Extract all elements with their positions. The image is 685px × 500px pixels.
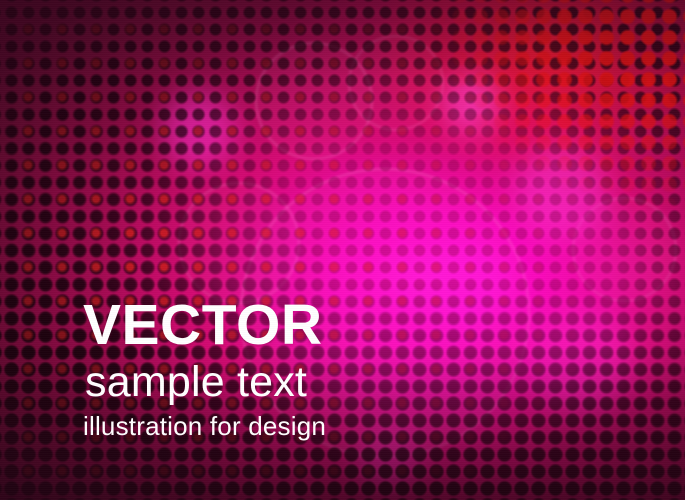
bokeh-ring-top-right — [348, 35, 444, 131]
bokeh-glow-lower-right — [520, 300, 640, 420]
bokeh-glow-center-bright — [424, 243, 510, 329]
bokeh-glow-top-mid — [438, 70, 504, 136]
bokeh-glow-left-upper — [157, 88, 241, 172]
headline-text: VECTOR — [83, 298, 326, 354]
bokeh-glow-right-upper — [510, 140, 614, 244]
subheadline-text: sample text — [85, 358, 326, 406]
bokeh-glow-bottom-mid — [352, 420, 426, 494]
caption-block: VECTOR sample text illustration for desi… — [83, 298, 326, 442]
bokeh-ring-left-mid — [178, 182, 300, 304]
bokeh-soft-wash-center — [300, 215, 550, 465]
tagline-text: illustration for design — [83, 412, 326, 442]
bokeh-ring-right-lower — [572, 197, 677, 302]
bokeh-ring-upper-mid — [255, 42, 373, 160]
illustration-canvas: VECTOR sample text illustration for desi… — [0, 0, 685, 500]
bokeh-soft-wash-right — [540, 210, 685, 400]
